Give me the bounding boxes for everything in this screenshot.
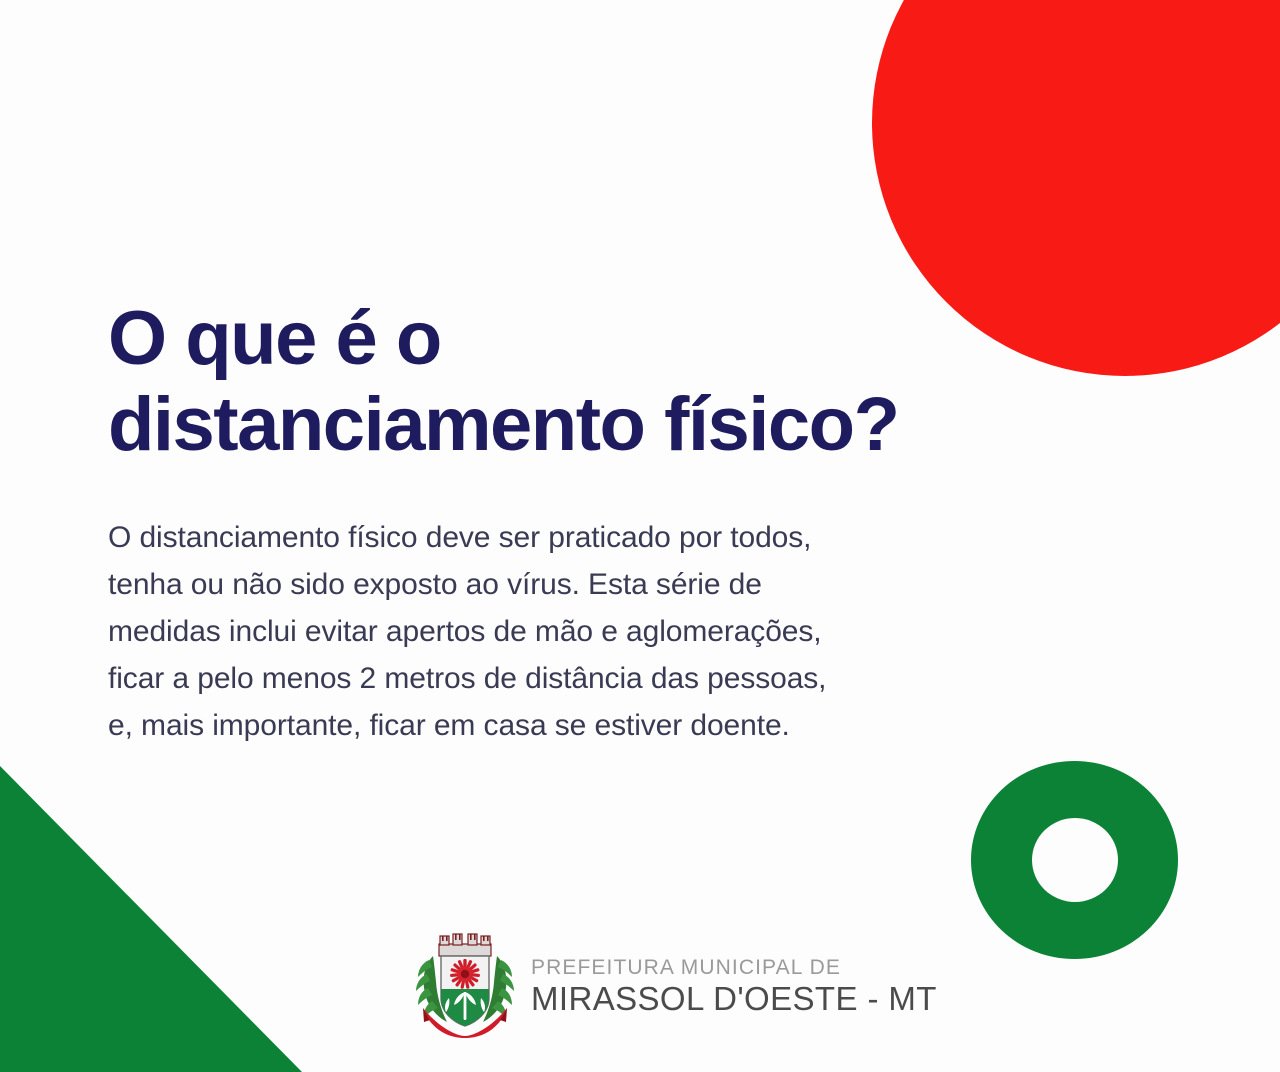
footer-text-block: PREFEITURA MUNICIPAL DE MIRASSOL D'OESTE…	[531, 952, 937, 1018]
body-paragraph: O distanciamento físico deve ser pratica…	[108, 514, 848, 749]
green-triangle-decoration	[0, 766, 302, 1072]
footer-line-city: MIRASSOL D'OESTE - MT	[531, 980, 937, 1018]
footer-line-prefeitura: PREFEITURA MUNICIPAL DE	[531, 956, 937, 980]
poster-canvas: O que é o distanciamento físico? O dista…	[0, 0, 1280, 1072]
page-title: O que é o distanciamento físico?	[108, 296, 988, 468]
green-ring-decoration	[971, 761, 1178, 959]
footer-logo-lockup: PREFEITURA MUNICIPAL DE MIRASSOL D'OESTE…	[413, 932, 937, 1038]
coat-of-arms-icon	[413, 932, 517, 1038]
